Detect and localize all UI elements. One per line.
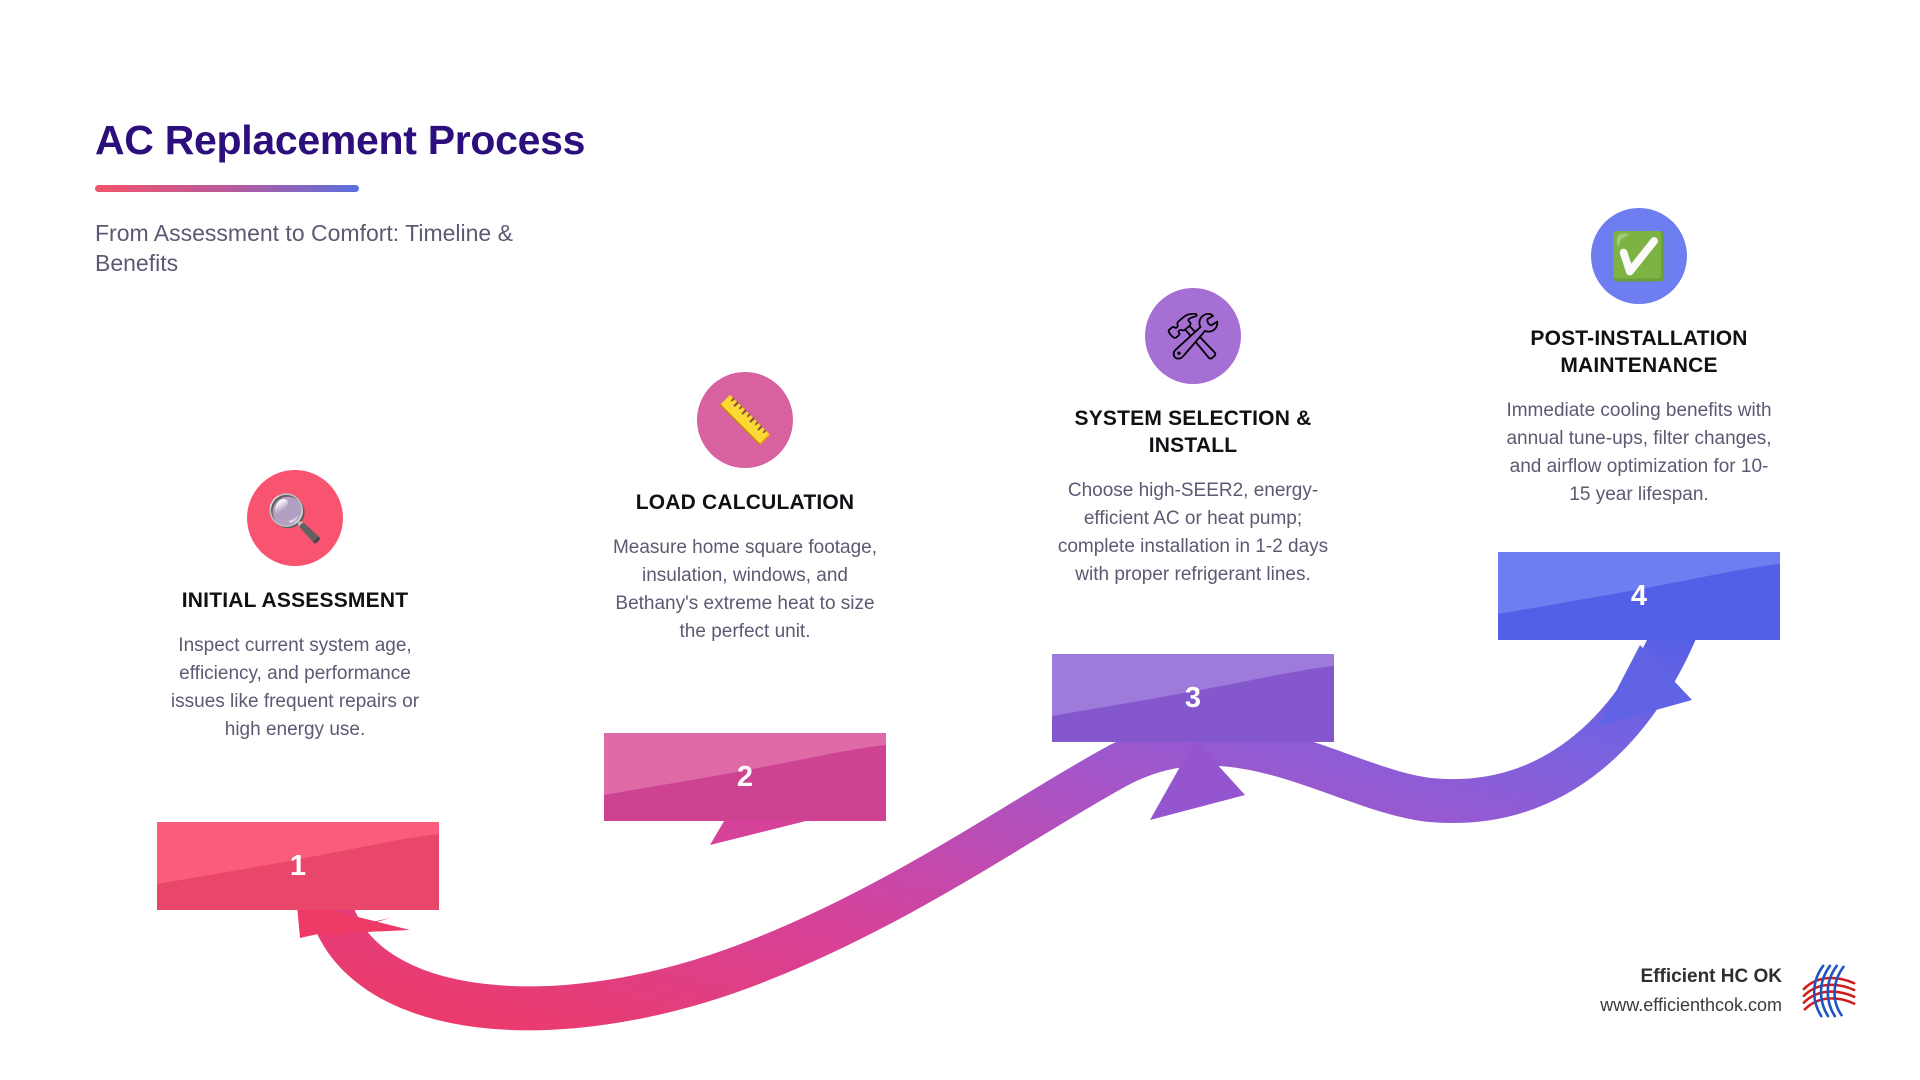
check-mark-button-icon: ✅	[1610, 233, 1667, 279]
hammer-and-wrench-icon: 🛠	[1164, 313, 1222, 359]
step-2-number: 2	[737, 761, 753, 794]
step-2[interactable]: 📏 LOAD CALCULATION Measure home square f…	[595, 372, 895, 646]
step-3-number-block: 3	[1052, 654, 1334, 742]
step-3-icon-circle: 🛠	[1145, 288, 1241, 384]
step-4-icon-circle: ✅	[1591, 208, 1687, 304]
infographic-canvas: AC Replacement Process From Assessment t…	[0, 0, 1920, 1080]
brand-url[interactable]: www.efficienthcok.com	[1600, 992, 1782, 1019]
step-2-icon-circle: 📏	[697, 372, 793, 468]
step-1-title: INITIAL ASSESSMENT	[145, 588, 445, 615]
step-3-number: 3	[1185, 682, 1201, 715]
step-1-icon-circle: 🔍	[247, 470, 343, 566]
footer-text: Efficient HC OK www.efficienthcok.com	[1600, 963, 1782, 1019]
step-2-title: LOAD CALCULATION	[595, 490, 895, 517]
ruler-icon: 📏	[716, 397, 773, 443]
footer-branding: Efficient HC OK www.efficienthcok.com	[1600, 960, 1860, 1022]
step-1-number: 1	[290, 850, 306, 883]
step-2-description: Measure home square footage, insulation,…	[595, 534, 895, 646]
step-1-description: Inspect current system age, efficiency, …	[145, 632, 445, 744]
step-2-number-block: 2	[604, 733, 886, 821]
step-4[interactable]: ✅ POST-INSTALLATION MAINTENANCE Immediat…	[1489, 208, 1789, 509]
step-3-description: Choose high-SEER2, energy-efficient AC o…	[1043, 477, 1343, 589]
step-1[interactable]: 🔍 INITIAL ASSESSMENT Inspect current sys…	[145, 470, 445, 744]
step-4-description: Immediate cooling benefits with annual t…	[1489, 397, 1789, 509]
step-4-number: 4	[1631, 580, 1647, 613]
woven-waves-logo	[1798, 960, 1860, 1022]
step-3-title: SYSTEM SELECTION & INSTALL	[1043, 406, 1343, 460]
step-3[interactable]: 🛠 SYSTEM SELECTION & INSTALL Choose high…	[1043, 288, 1343, 589]
magnifying-glass-icon: 🔍	[266, 495, 323, 541]
brand-name: Efficient HC OK	[1600, 963, 1782, 992]
step-4-title: POST-INSTALLATION MAINTENANCE	[1489, 326, 1789, 380]
step-1-number-block: 1	[157, 822, 439, 910]
step-4-number-block: 4	[1498, 552, 1780, 640]
